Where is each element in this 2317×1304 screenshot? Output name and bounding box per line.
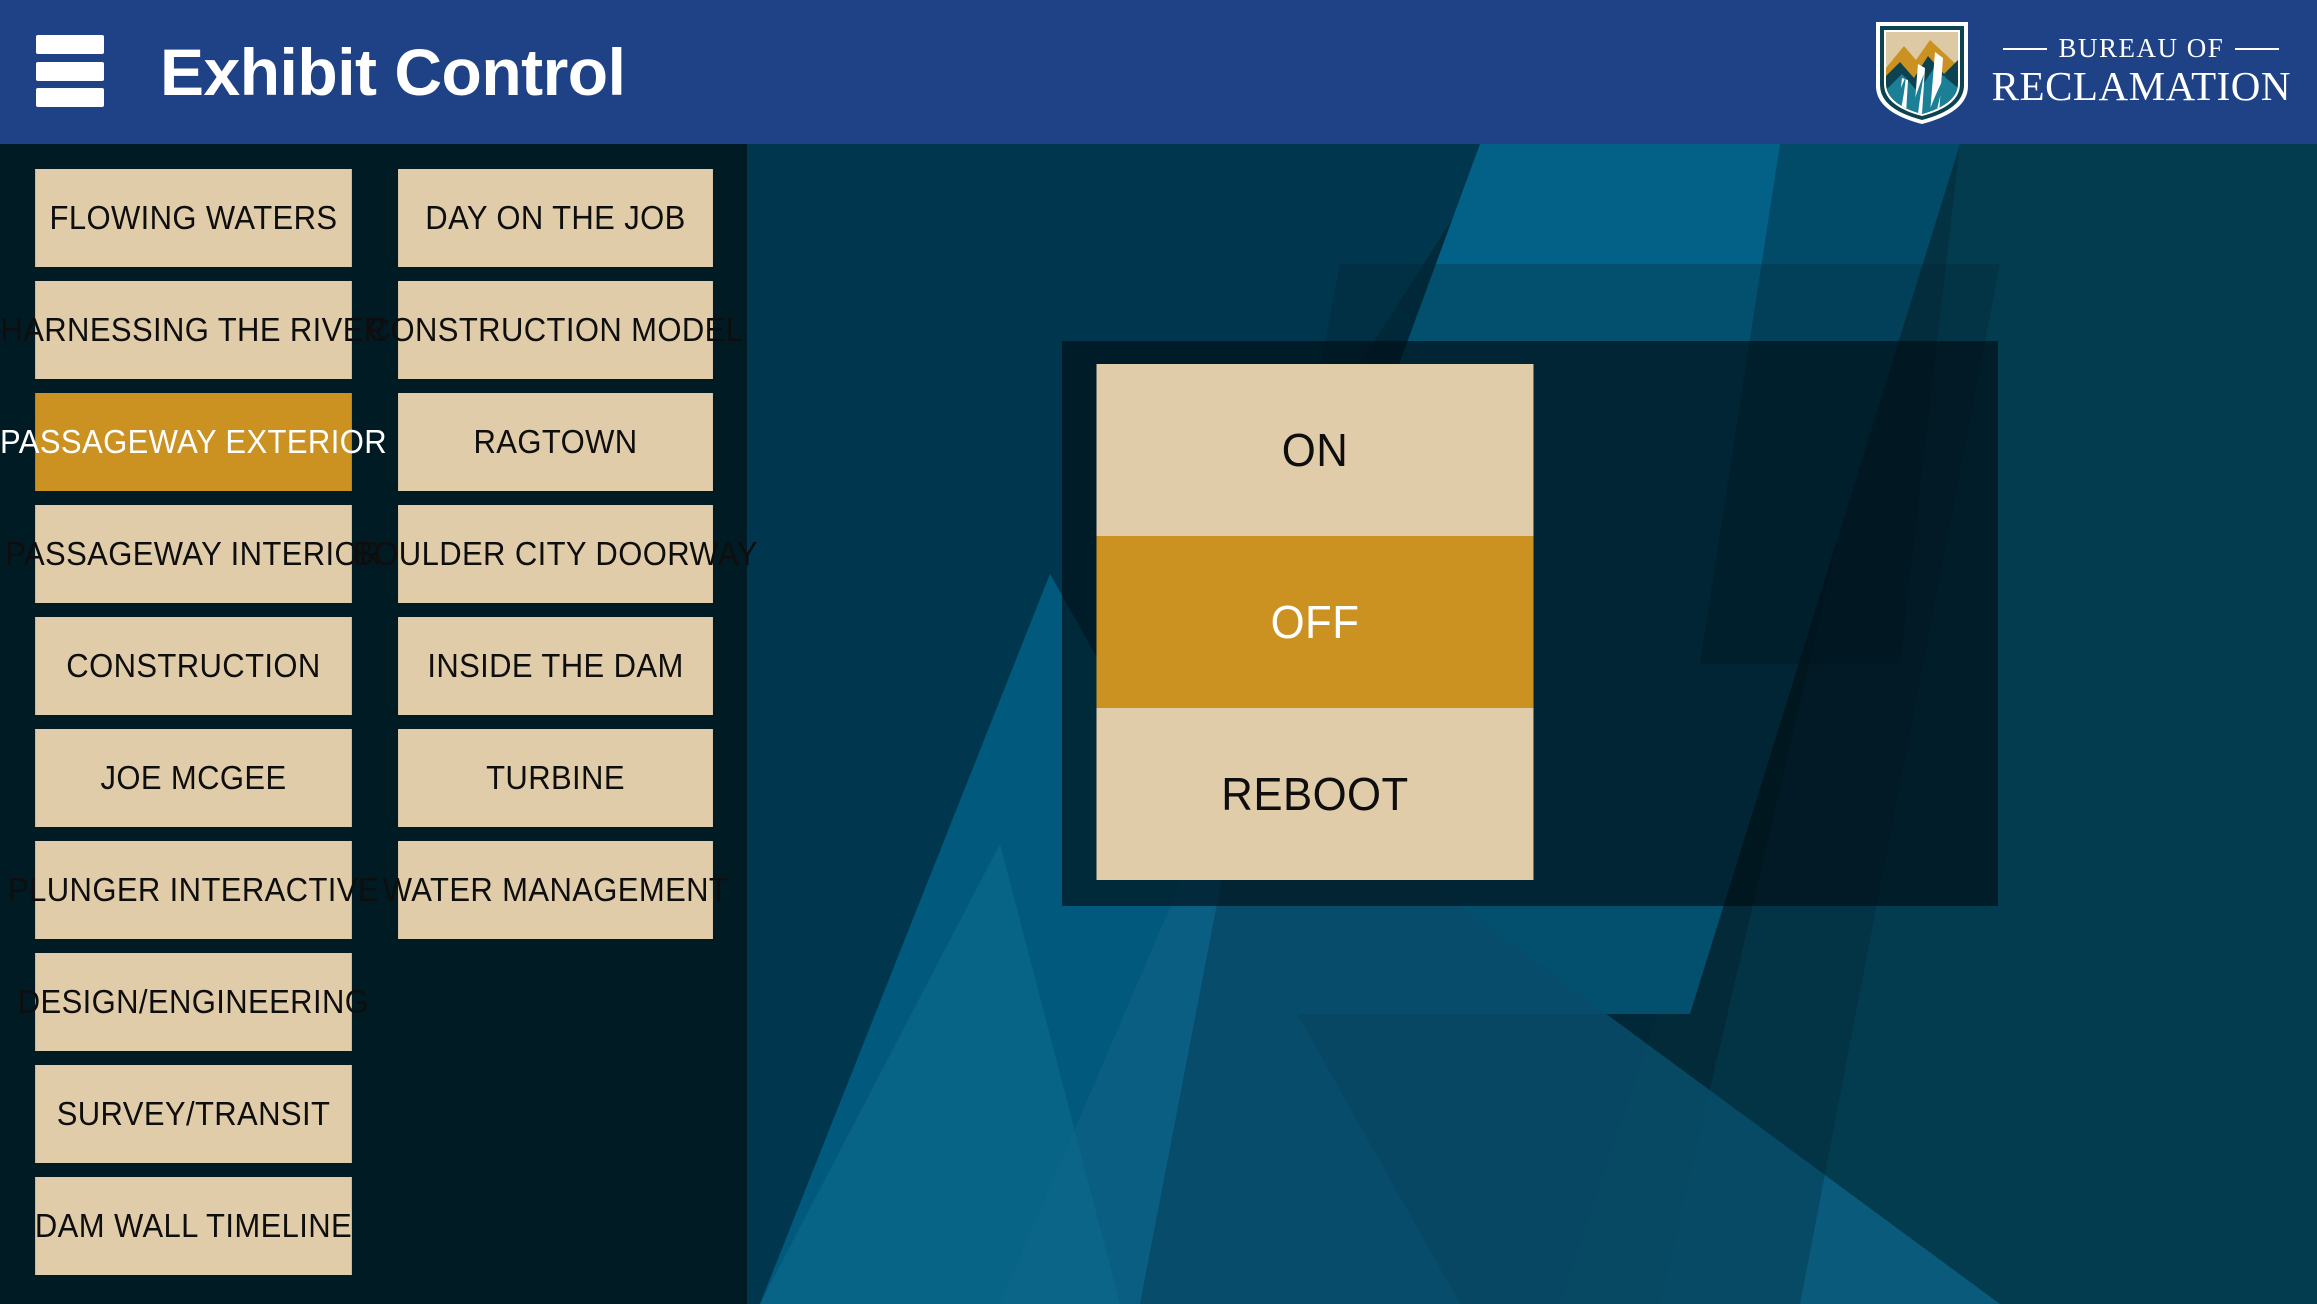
sidebar-item-label: RAGTOWN xyxy=(473,423,637,461)
hamburger-bar-2 xyxy=(36,62,104,81)
app-header: Exhibit Control xyxy=(0,0,2317,144)
power-button-label: OFF xyxy=(1271,595,1360,649)
sidebar-item-label: DAY ON THE JOB xyxy=(425,199,685,237)
power-button-on[interactable]: ON xyxy=(1097,364,1534,536)
hamburger-bar-1 xyxy=(36,35,104,54)
power-button-label: REBOOT xyxy=(1221,767,1408,821)
sidebar-item-boulder-city-doorway[interactable]: BOULDER CITY DOORWAY xyxy=(398,505,713,603)
logo-rule-right xyxy=(2235,48,2279,50)
page-title: Exhibit Control xyxy=(160,34,625,110)
sidebar-item-label: JOE MCGEE xyxy=(100,759,286,797)
sidebar-item-label: CONSTRUCTION MODEL xyxy=(368,311,744,349)
sidebar-item-flowing-waters[interactable]: FLOWING WATERS xyxy=(35,169,352,267)
sidebar-item-label: HARNESSING THE RIVER xyxy=(0,311,386,349)
power-button-off[interactable]: OFF xyxy=(1097,536,1534,708)
sidebar-item-label: FLOWING WATERS xyxy=(50,199,338,237)
sidebar-item-harnessing-the-river[interactable]: HARNESSING THE RIVER xyxy=(35,281,352,379)
power-control-panel: ONOFFREBOOT xyxy=(1062,341,1998,906)
logo-reclamation-text: RECLAMATION xyxy=(1992,65,2291,108)
bureau-of-reclamation-shield-icon xyxy=(1870,16,1974,128)
bureau-of-reclamation-logo: BUREAU OF RECLAMATION xyxy=(1870,16,2291,128)
sidebar-item-joe-mcgee[interactable]: JOE MCGEE xyxy=(35,729,352,827)
logo-rule-left xyxy=(2003,48,2047,50)
logo-bureau-text: BUREAU OF xyxy=(2058,35,2224,62)
sidebar-item-dam-wall-timeline[interactable]: DAM WALL TIMELINE xyxy=(35,1177,352,1275)
sidebar-item-survey-transit[interactable]: SURVEY/TRANSIT xyxy=(35,1065,352,1163)
sidebar-item-construction[interactable]: CONSTRUCTION xyxy=(35,617,352,715)
sidebar-item-label: CONSTRUCTION xyxy=(66,647,320,685)
power-button-reboot[interactable]: REBOOT xyxy=(1097,708,1534,880)
sidebar-item-turbine[interactable]: TURBINE xyxy=(398,729,713,827)
sidebar-item-label: DESIGN/ENGINEERING xyxy=(18,983,370,1021)
sidebar-item-label: TURBINE xyxy=(486,759,625,797)
sidebar-item-ragtown[interactable]: RAGTOWN xyxy=(398,393,713,491)
sidebar-item-passageway-exterior[interactable]: PASSAGEWAY EXTERIOR xyxy=(35,393,352,491)
hamburger-bar-3 xyxy=(36,88,104,107)
sidebar-item-label: INSIDE THE DAM xyxy=(427,647,683,685)
sidebar-item-water-management[interactable]: WATER MANAGEMENT xyxy=(398,841,713,939)
exhibit-sidebar: FLOWING WATERSDAY ON THE JOBHARNESSING T… xyxy=(0,144,747,1304)
hamburger-menu-icon[interactable] xyxy=(36,35,104,107)
sidebar-item-label: DAM WALL TIMELINE xyxy=(35,1207,352,1245)
sidebar-item-passageway-interior[interactable]: PASSAGEWAY INTERIOR xyxy=(35,505,352,603)
sidebar-item-inside-the-dam[interactable]: INSIDE THE DAM xyxy=(398,617,713,715)
sidebar-item-label: PLUNGER INTERACTIVE xyxy=(8,871,379,909)
sidebar-item-label: WATER MANAGEMENT xyxy=(383,871,729,909)
sidebar-item-day-on-the-job[interactable]: DAY ON THE JOB xyxy=(398,169,713,267)
sidebar-item-label: BOULDER CITY DOORWAY xyxy=(353,535,758,573)
logo-line-one: BUREAU OF xyxy=(2003,35,2279,62)
sidebar-item-label: PASSAGEWAY INTERIOR xyxy=(5,535,382,573)
power-button-label: ON xyxy=(1282,423,1349,477)
sidebar-item-design-engineering[interactable]: DESIGN/ENGINEERING xyxy=(35,953,352,1051)
sidebar-item-plunger-interactive[interactable]: PLUNGER INTERACTIVE xyxy=(35,841,352,939)
sidebar-item-label: PASSAGEWAY EXTERIOR xyxy=(0,423,387,461)
logo-wordmark: BUREAU OF RECLAMATION xyxy=(1992,35,2291,108)
sidebar-item-label: SURVEY/TRANSIT xyxy=(57,1095,331,1133)
sidebar-item-construction-model[interactable]: CONSTRUCTION MODEL xyxy=(398,281,713,379)
main-stage: FLOWING WATERSDAY ON THE JOBHARNESSING T… xyxy=(0,144,2317,1304)
